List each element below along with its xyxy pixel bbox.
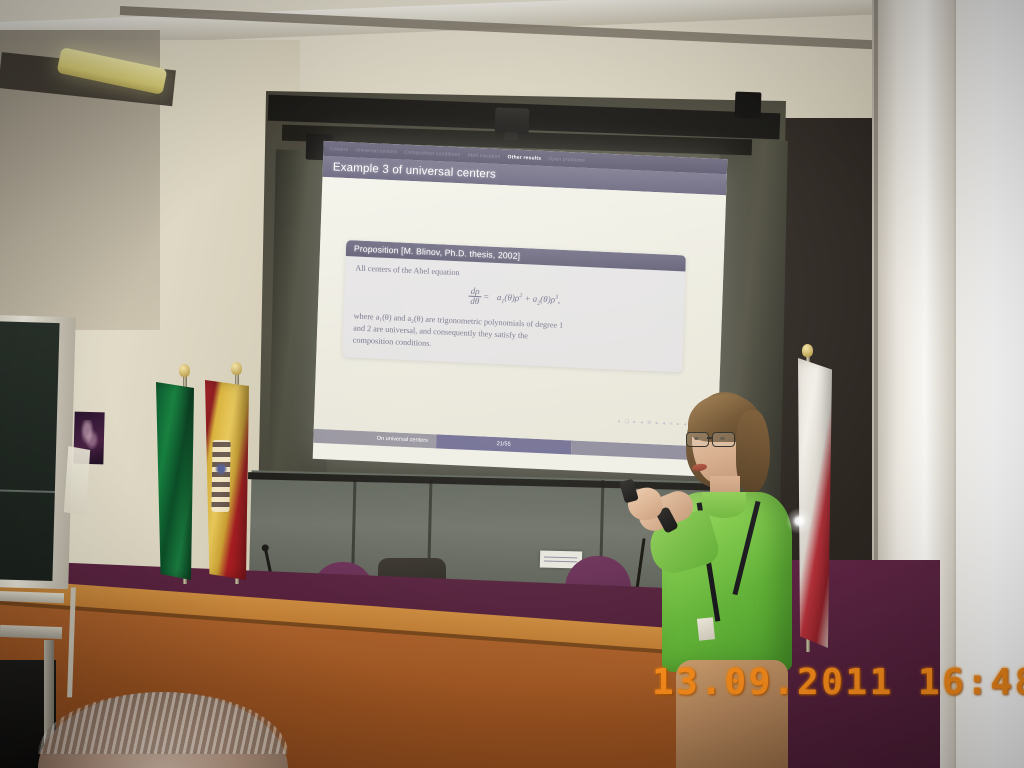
proposition-tail: where a₁(θ) and a₂(θ) are trigonometric … [353, 310, 674, 361]
flag-finial-spain [231, 362, 242, 375]
lens-flare [786, 508, 812, 534]
equation-plus: + [524, 293, 530, 303]
equation-a2-arg: (θ)ρ [540, 294, 555, 305]
proposition-block: Proposition [M. Blinov, Ph.D. thesis, 20… [342, 240, 686, 372]
spain-coat-of-arms [211, 440, 230, 512]
andalusia-flag [156, 382, 194, 580]
glasses-lens-right [712, 432, 735, 447]
nav-item-open-problems: Open problems [548, 156, 585, 164]
flag-finial-cantabria [802, 344, 813, 357]
equation-comma: , [558, 295, 561, 305]
speaker [640, 392, 820, 768]
flipchart-paper [64, 446, 90, 516]
ceiling-projector [495, 107, 530, 134]
equation-equals: = [483, 291, 488, 301]
conference-presentation-photo: Centers Universal centers Composition co… [0, 0, 1024, 768]
equation-right-hand-side: a1(θ)ρ2 + a2(θ)ρ3, [497, 292, 561, 305]
nav-item-composition-conditions: Composition conditions [404, 149, 460, 158]
chalkboard-lower-shelf [0, 625, 62, 639]
right-overexposed-edge [956, 0, 1024, 768]
speaker-glasses [686, 432, 740, 445]
chalkboard-surface [0, 321, 60, 581]
glasses-lens-left [686, 432, 709, 447]
speaker-name-badge [697, 617, 715, 641]
equation-denominator: dθ [468, 297, 481, 307]
equation-a1-arg: (θ)ρ [504, 292, 519, 303]
nav-item-centers: Centers [329, 146, 348, 153]
track-mount-right [735, 92, 762, 119]
speaker-hair-side [736, 410, 770, 492]
equation-derivative-fraction: dρ dθ [468, 287, 482, 307]
camera-timestamp: 13.09.2011 16:48 [652, 662, 1024, 703]
equation-a1-pow: 2 [519, 293, 522, 299]
flag-finial-andalusia [179, 364, 190, 377]
nav-item-abel-equation: Abel equation [467, 152, 500, 160]
proposition-content: All centers of the Abel equation dρ dθ =… [342, 256, 685, 372]
nav-item-other-results: Other results [507, 154, 541, 162]
nav-item-universal-centers: Universal centers [355, 147, 397, 155]
